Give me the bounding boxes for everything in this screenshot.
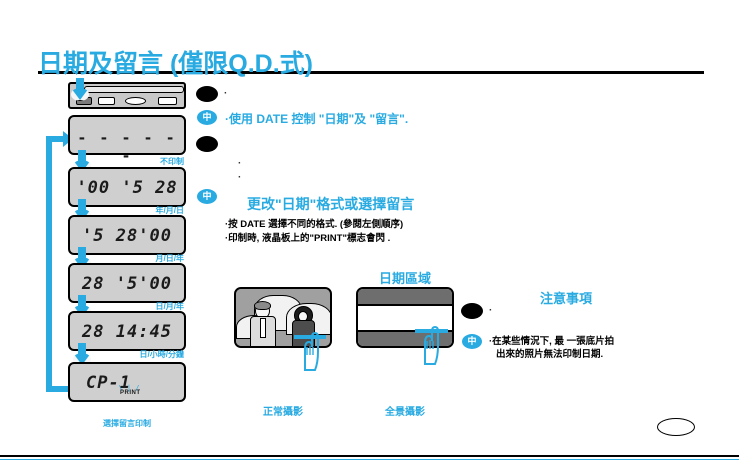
lcd-step-4-display: 28 '5'00 — [70, 274, 184, 294]
notice-line-1: ·在某些情況下, 最 一張底片拍 — [489, 333, 614, 347]
instruction-heading: 更改"日期"格式或選擇留言 — [247, 194, 414, 214]
lcd-step-5-format-label: 日/小時/分鐘 — [98, 349, 184, 360]
bullet-cn-2-icon: 中 — [197, 189, 217, 204]
sequence-loop-line — [46, 130, 70, 392]
pointing-hand-pano-icon — [420, 325, 442, 365]
lcd-step-3-display: '5 28'00 — [70, 226, 184, 246]
camera-button-mode — [98, 97, 115, 105]
lcd-print-indicator: PRINT — [120, 390, 141, 396]
lcd-sequence-caption: 選擇留言印制 — [62, 418, 192, 429]
pano-mask-top — [358, 289, 452, 306]
bullet-cn-1-icon: 中 — [197, 110, 217, 125]
camera-button-aux — [158, 97, 177, 105]
photo-pano-caption: 全景攝影 — [356, 403, 454, 418]
photo-normal-caption: 正常攝影 — [234, 403, 332, 418]
instruction-sub-2: ·印制時, 液晶板上的"PRINT"標志會閃 . — [225, 230, 390, 244]
bullet-dot-4: · — [489, 305, 492, 316]
bullet-cn-3-icon: 中 — [462, 334, 482, 349]
notice-line-2: 出來的照片無法印制日期. — [496, 346, 603, 360]
footer-rule-accent — [0, 459, 739, 460]
lcd-step-6: CP-1 \ | / PRINT — [68, 362, 186, 402]
lcd-step-1-format-label: 不印制 — [100, 156, 184, 167]
bullet-black-2-icon — [196, 136, 218, 152]
bullet-dot-1: · — [224, 88, 227, 99]
camera-lcd-strip — [84, 86, 184, 93]
page-title: 日期及留言 (僅限Q.D.式) — [38, 44, 313, 80]
lcd-step-2-display: '00 '5 28 — [70, 178, 184, 198]
notice-heading: 注意事項 — [540, 288, 592, 307]
lcd-step-5-display: 28 14:45 — [70, 322, 184, 342]
pointing-hand-normal-icon — [300, 331, 322, 371]
bullet-black-1-icon — [196, 86, 218, 102]
bullet-dot-2: · — [238, 158, 241, 169]
bullet-black-3-icon — [461, 303, 483, 319]
instruction-line-1: ·使用 DATE 控制 "日期"及 "留言". — [225, 110, 408, 127]
instruction-sub-1: ·按 DATE 選擇不同的格式. (參閱左側順序) — [225, 216, 403, 230]
press-date-arrow-icon — [71, 78, 89, 100]
camera-shutter-button — [125, 97, 146, 105]
date-area-label: 日期區域 — [333, 268, 477, 287]
bullet-dot-3: · — [238, 172, 241, 183]
lcd-step-1: - - - - - - — [68, 115, 186, 155]
footer-page-marker — [657, 418, 695, 436]
footer-rule — [0, 455, 739, 457]
manual-page: 日期及留言 (僅限Q.D.式) - - - - - - 不印制 '00 '5 2… — [0, 0, 739, 465]
